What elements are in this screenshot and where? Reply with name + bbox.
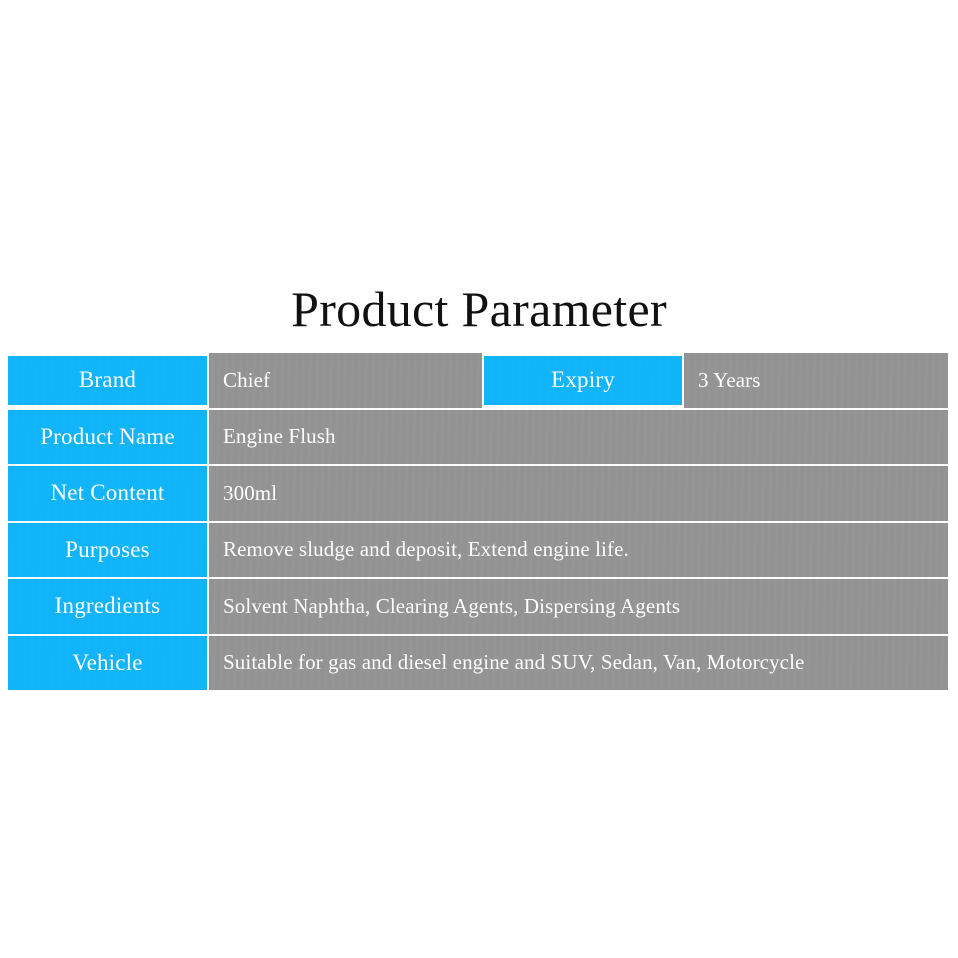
param-label-net-content: Net Content bbox=[8, 466, 207, 521]
param-label-brand: Brand bbox=[8, 356, 207, 405]
param-value-brand: Chief bbox=[209, 353, 482, 408]
product-parameter-table: Brand Chief Expiry 3 Years Product Name … bbox=[8, 353, 948, 690]
product-parameter-page: Product Parameter Brand Chief Expiry 3 Y… bbox=[0, 0, 958, 958]
param-label-expiry: Expiry bbox=[484, 356, 682, 405]
param-label-product-name: Product Name bbox=[8, 410, 207, 465]
table-row: Product Name Engine Flush bbox=[8, 410, 948, 465]
param-value-purposes: Remove sludge and deposit, Extend engine… bbox=[209, 523, 948, 578]
table-row: Brand Chief Expiry 3 Years bbox=[8, 353, 948, 408]
table-row: Net Content 300ml bbox=[8, 466, 948, 521]
param-value-product-name: Engine Flush bbox=[209, 410, 948, 465]
param-label-vehicle: Vehicle bbox=[8, 636, 207, 691]
table-row: Vehicle Suitable for gas and diesel engi… bbox=[8, 636, 948, 691]
table-row: Purposes Remove sludge and deposit, Exte… bbox=[8, 523, 948, 578]
param-value-expiry: 3 Years bbox=[684, 353, 948, 408]
param-label-purposes: Purposes bbox=[8, 523, 207, 578]
param-label-ingredients: Ingredients bbox=[8, 579, 207, 634]
param-value-net-content: 300ml bbox=[209, 466, 948, 521]
param-value-vehicle: Suitable for gas and diesel engine and S… bbox=[209, 636, 948, 691]
param-value-ingredients: Solvent Naphtha, Clearing Agents, Disper… bbox=[209, 579, 948, 634]
table-row: Ingredients Solvent Naphtha, Clearing Ag… bbox=[8, 579, 948, 634]
page-title: Product Parameter bbox=[0, 278, 958, 340]
